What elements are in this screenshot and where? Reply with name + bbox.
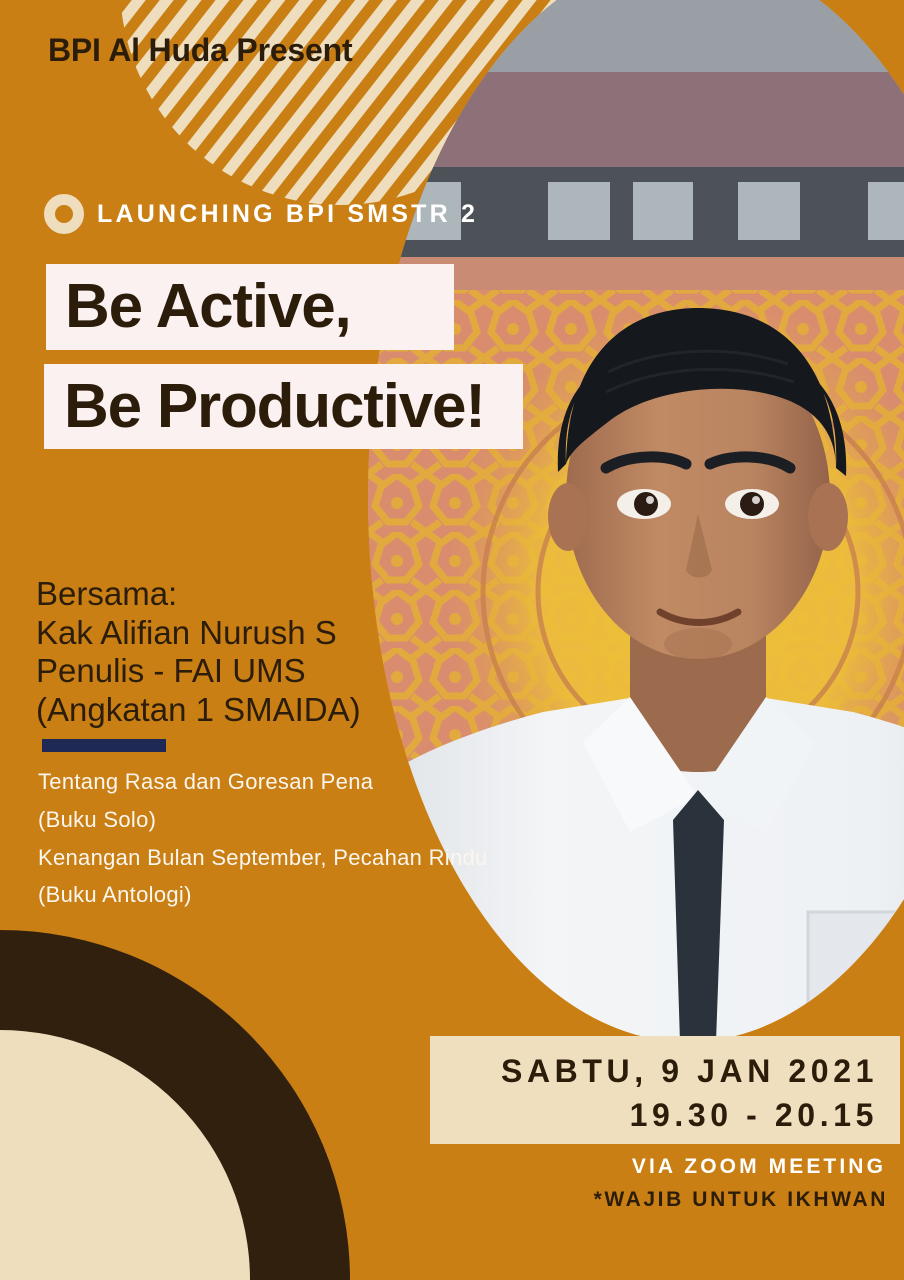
schedule-date: SABTU, 9 JAN 2021 — [430, 1049, 878, 1093]
headline-line-1: Be Active, — [46, 264, 454, 350]
works-list: Tentang Rasa dan Goresan Pena (Buku Solo… — [38, 763, 488, 914]
schedule-time: 19.30 - 20.15 — [430, 1093, 878, 1137]
work-item: Kenangan Bulan September, Pecahan Rindu — [38, 839, 488, 877]
schedule-panel: SABTU, 9 JAN 2021 19.30 - 20.15 — [430, 1036, 900, 1144]
organizer-present-title: BPI Al Huda Present — [48, 32, 352, 69]
work-item: Tentang Rasa dan Goresan Pena — [38, 763, 488, 801]
schedule-note: *WAJIB UNTUK IKHWAN — [430, 1188, 900, 1212]
donut-ring-icon — [44, 194, 84, 234]
speaker-intro: Bersama: — [36, 575, 361, 614]
launch-eyebrow-label: LAUNCHING BPI SMSTR 2 — [97, 200, 478, 229]
speaker-cohort: (Angkatan 1 SMAIDA) — [36, 691, 361, 730]
headline-line-1-text: Be Active, — [65, 276, 351, 338]
launch-eyebrow: LAUNCHING BPI SMSTR 2 — [44, 194, 478, 234]
work-item: (Buku Antologi) — [38, 876, 488, 914]
speaker-block: Bersama: Kak Alifian Nurush S Penulis - … — [36, 575, 361, 729]
headline-line-2-text: Be Productive! — [64, 376, 485, 438]
event-poster: BPI Al Huda Present LAUNCHING BPI SMSTR … — [0, 0, 904, 1280]
speaker-name: Kak Alifian Nurush S — [36, 614, 361, 653]
schedule-platform: VIA ZOOM MEETING — [430, 1155, 900, 1179]
headline-line-2: Be Productive! — [44, 364, 523, 449]
section-divider-rule — [42, 739, 166, 752]
speaker-role: Penulis - FAI UMS — [36, 652, 361, 691]
work-item: (Buku Solo) — [38, 801, 488, 839]
